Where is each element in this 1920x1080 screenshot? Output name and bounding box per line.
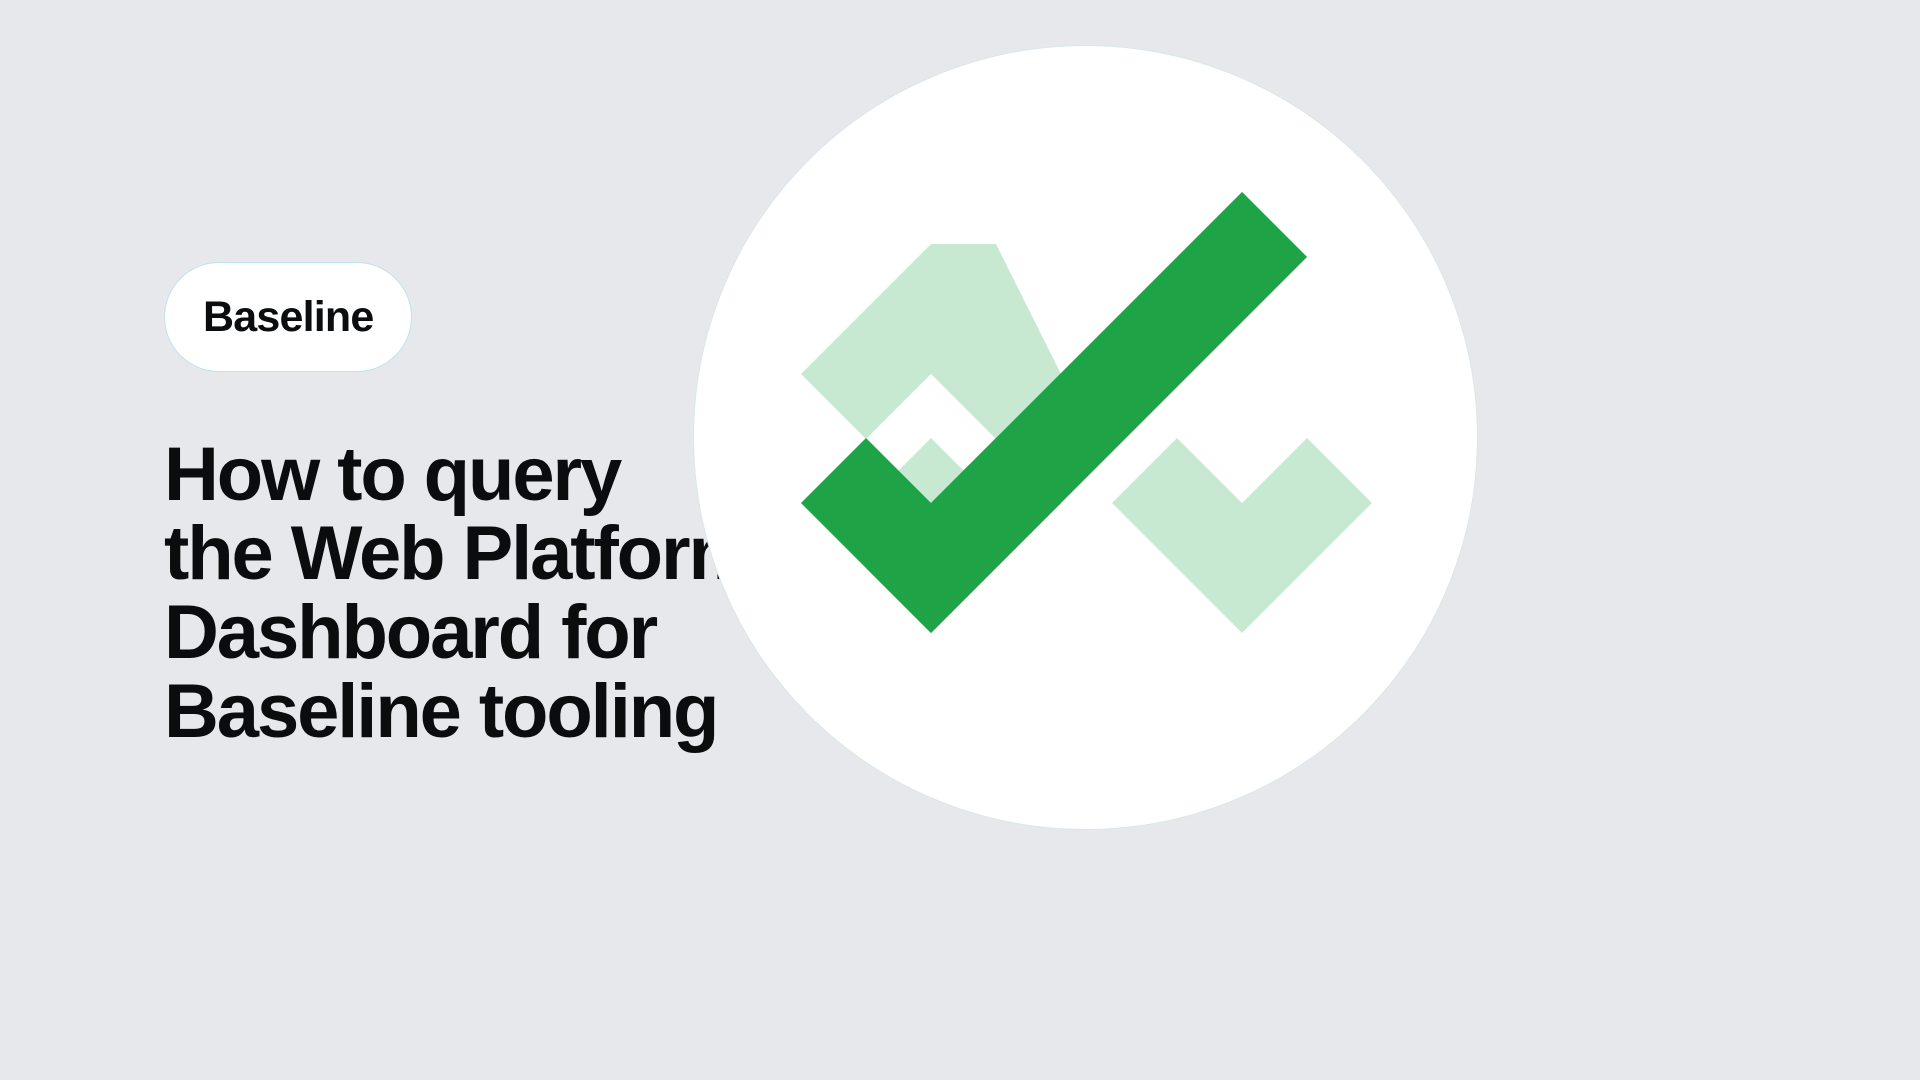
baseline-logo-icon: [694, 46, 1479, 831]
baseline-badge[interactable]: Baseline: [164, 262, 412, 372]
logo-light-chevron-lower-right: [1112, 438, 1372, 633]
hero-card: Baseline How to query the Web Platform D…: [0, 0, 1920, 1080]
logo-dark-upper-right-tip: [1242, 192, 1307, 257]
baseline-logo-disc: [693, 45, 1478, 830]
baseline-badge-label: Baseline: [203, 296, 373, 339]
